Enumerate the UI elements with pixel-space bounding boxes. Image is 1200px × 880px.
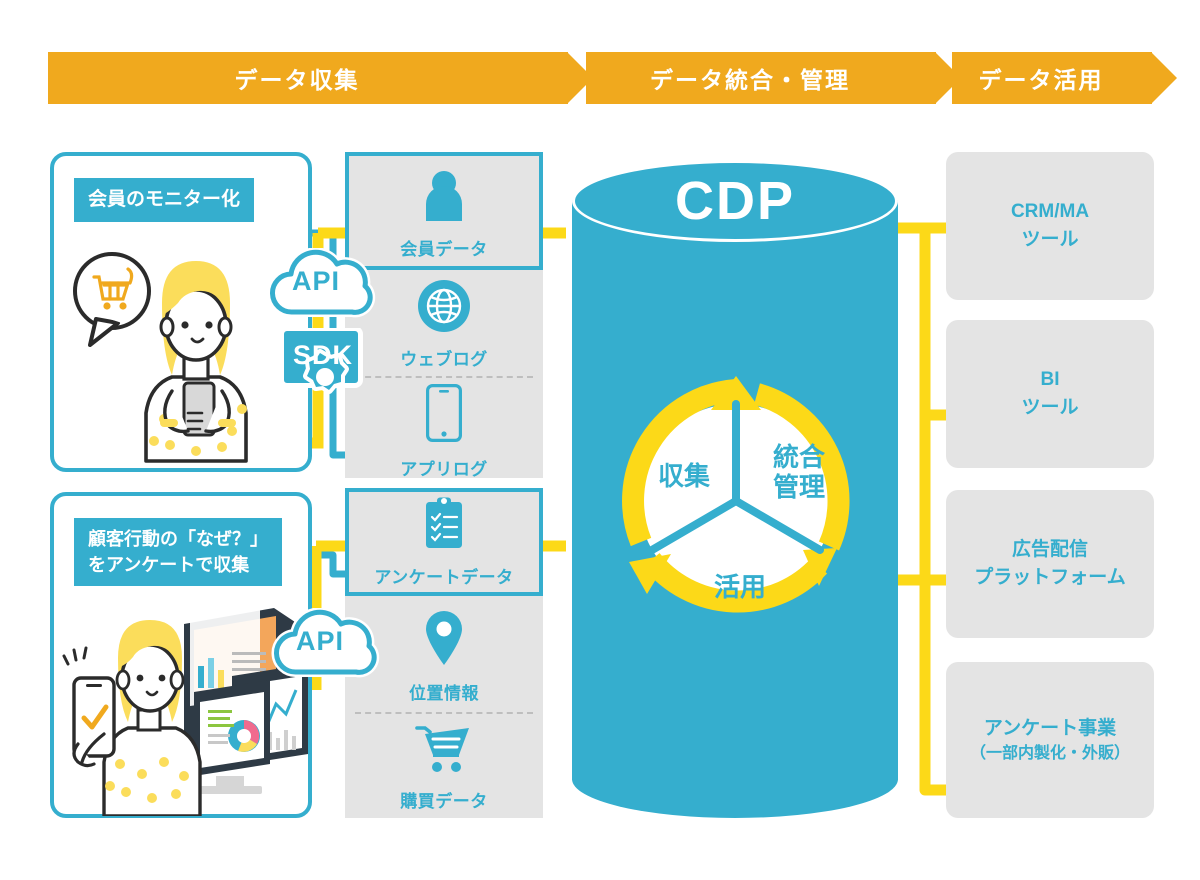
map-pin-icon <box>422 610 466 671</box>
badge-label: API <box>296 626 344 657</box>
clipboard-icon <box>422 496 466 555</box>
smartphone-icon <box>426 384 462 447</box>
banner-label: データ収集 <box>235 61 360 95</box>
output-sublabel: （一部内製化・外販） <box>970 742 1130 765</box>
banner-data-utilization: データ活用 <box>952 52 1152 104</box>
banner-label: データ統合・管理 <box>650 61 850 95</box>
banner-label: データ活用 <box>979 61 1104 95</box>
badge-api-cloud-top[interactable]: API <box>262 248 380 323</box>
output-box-bi-tool[interactable]: BI ツール <box>946 320 1154 468</box>
badge-label: API <box>292 266 340 297</box>
output-label: アンケート事業 <box>984 715 1116 743</box>
person-icon <box>421 170 467 227</box>
output-box-crm-ma-tool[interactable]: CRM/MA ツール <box>946 152 1154 300</box>
banner-data-integration: データ統合・管理 <box>586 52 936 104</box>
source-item-purchase-data[interactable]: 購買データ <box>345 722 543 812</box>
badge-sdk[interactable]: SDK <box>279 328 371 409</box>
source-label: アプリログ <box>400 455 488 480</box>
output-label: BI ツール <box>1021 366 1078 421</box>
cycle-label-utilize: 活用 <box>700 573 780 603</box>
output-label: 広告配信 プラットフォーム <box>974 536 1125 591</box>
panel-title: 会員のモニター化 <box>74 178 254 222</box>
output-label: CRM/MA ツール <box>1011 198 1089 253</box>
source-item-app-log[interactable]: アプリログ <box>345 390 543 480</box>
source-divider-bottom <box>355 712 533 714</box>
source-label: ウェブログ <box>400 345 488 370</box>
source-label: 位置情報 <box>409 679 479 704</box>
shopping-cart-icon <box>415 724 473 779</box>
cycle-label-collect: 収集 <box>648 462 720 492</box>
panel-title: 顧客行動の「なぜ？」 をアンケートで収集 <box>74 518 282 586</box>
badge-label: SDK <box>293 340 353 371</box>
cycle-label-integrate-manage: 統合 管理 <box>756 443 842 503</box>
source-label: アンケートデータ <box>374 563 513 588</box>
output-box-ad-delivery-platform[interactable]: 広告配信 プラットフォーム <box>946 490 1154 638</box>
source-item-member-data[interactable]: 会員データ <box>345 168 543 260</box>
cdp-title: CDP <box>572 170 898 232</box>
source-item-survey-data[interactable]: アンケートデータ <box>345 500 543 588</box>
infographic-canvas: データ収集 データ統合・管理 データ活用 会員データ <box>0 0 1200 880</box>
source-label: 購買データ <box>400 787 488 812</box>
badge-api-cloud-bottom[interactable]: API <box>266 608 384 683</box>
banner-data-collection: データ収集 <box>48 52 568 104</box>
source-label: 会員データ <box>400 235 488 260</box>
output-box-survey-business[interactable]: アンケート事業 （一部内製化・外販） <box>946 662 1154 818</box>
source-divider-top <box>355 376 533 378</box>
globe-icon <box>418 280 470 337</box>
